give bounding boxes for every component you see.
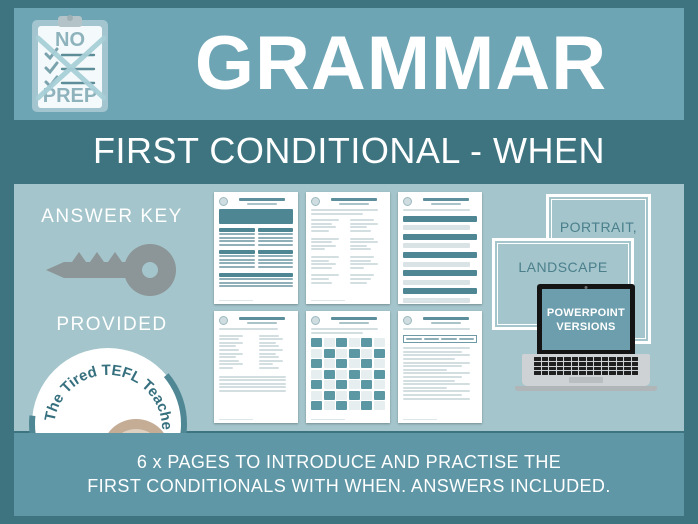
answer-key-column: ANSWER KEY PROVIDED [14,184,210,431]
main-panel: ANSWER KEY PROVIDED [14,184,684,431]
worksheet-thumbnail[interactable] [306,192,390,304]
worksheet-thumbnail[interactable] [398,311,482,423]
worksheet-thumbnail[interactable] [398,192,482,304]
subtitle-banner: FIRST CONDITIONAL - WHEN [14,122,684,180]
sheet-logo-icon [403,197,412,206]
laptop-foot [515,386,657,391]
laptop-graphic: POWERPOINT VERSIONS [522,284,650,404]
sheet-logo-icon [311,197,320,206]
laptop-keyboard-icon [534,357,638,375]
worksheet-thumbnail[interactable] [214,311,298,423]
sheet-logo-icon [219,197,228,206]
battleships-grid [311,338,385,410]
powerpoint-label-line2: VERSIONS [556,321,615,333]
portrait-label: PORTRAIT, [549,219,648,235]
no-prep-clipboard-icon: NO PREP [24,10,116,118]
description-line-2: FIRST CONDITIONALS WITH WHEN. ANSWERS IN… [87,476,611,497]
laptop-lid: POWERPOINT VERSIONS [537,284,635,354]
answer-key-label: ANSWER KEY [14,206,210,228]
laptop-trackpad [569,377,603,383]
landscape-label: LANDSCAPE [495,259,631,275]
title-banner: NO PREP GRAMMAR [14,8,684,120]
sheet-logo-icon [403,316,412,325]
formats-column: PORTRAIT, LANDSCAPE AND POWERPOINT VERSI… [484,184,684,431]
sheet-logo-icon [311,316,320,325]
worksheet-thumbnail[interactable] [306,311,390,423]
answer-key-provided-label: PROVIDED [14,314,210,336]
description-banner: 6 x PAGES TO INTRODUCE AND PRACTISE THE … [14,433,684,516]
worksheet-thumbnail[interactable] [214,192,298,304]
key-icon [38,236,186,304]
product-cover: NO PREP GRAMMAR FIRST CONDITIONAL - WHEN… [0,0,698,524]
laptop-screen: POWERPOINT VERSIONS [542,289,630,350]
page-title: GRAMMAR [118,26,684,102]
page-subtitle: FIRST CONDITIONAL - WHEN [93,130,605,172]
no-prep-line1-text: NO [55,29,85,51]
description-line-1: 6 x PAGES TO INTRODUCE AND PRACTISE THE [137,452,561,473]
laptop-base [522,354,650,386]
powerpoint-label-line1: POWERPOINT [547,307,625,319]
sheet-logo-icon [219,316,228,325]
worksheet-previews [214,192,484,424]
